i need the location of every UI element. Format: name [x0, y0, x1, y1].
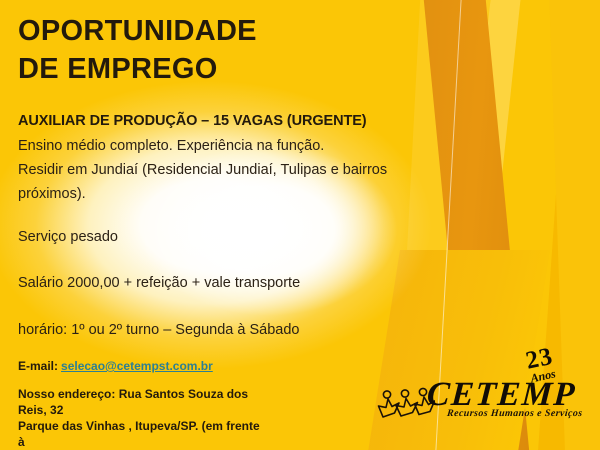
- company-address: Nosso endereço: Rua Santos Souza dos Rei…: [18, 386, 268, 450]
- title-line-1: OPORTUNIDADE: [18, 12, 257, 50]
- job-requirements: Ensino médio completo. Experiência na fu…: [18, 134, 418, 206]
- job-schedule: horário: 1º ou 2º turno – Segunda à Sába…: [18, 322, 299, 338]
- job-service-type: Serviço pesado: [18, 229, 118, 245]
- requirement-line-1: Ensino médio completo. Experiência na fu…: [18, 134, 418, 158]
- page-title: OPORTUNIDADE DE EMPREGO: [18, 12, 257, 88]
- requirement-line-2: Residir em Jundiaí (Residencial Jundiaí,…: [18, 158, 418, 182]
- company-logo: CETEMP Recursos Humanos e Serviços 23 An…: [375, 352, 590, 438]
- job-advertisement-poster: OPORTUNIDADE DE EMPREGO AUXILIAR DE PROD…: [0, 0, 600, 450]
- logo-tagline: Recursos Humanos e Serviços: [447, 408, 584, 419]
- address-line-1: Nosso endereço: Rua Santos Souza dos Rei…: [18, 386, 268, 418]
- email-row: E-mail:selecao@cetempst.com.br: [18, 359, 213, 373]
- address-line-2: Parque das Vinhas , Itupeva/SP. (em fren…: [18, 418, 268, 450]
- job-salary: Salário 2000,00 + refeição + vale transp…: [18, 275, 300, 291]
- poster-content: OPORTUNIDADE DE EMPREGO AUXILIAR DE PROD…: [0, 0, 600, 450]
- requirement-line-3: próximos).: [18, 182, 418, 206]
- email-link[interactable]: selecao@cetempst.com.br: [61, 359, 213, 373]
- job-position-heading: AUXILIAR DE PRODUÇÃO – 15 VAGAS (URGENTE…: [18, 113, 367, 129]
- title-line-2: DE EMPREGO: [18, 50, 257, 88]
- email-label: E-mail:: [18, 359, 58, 373]
